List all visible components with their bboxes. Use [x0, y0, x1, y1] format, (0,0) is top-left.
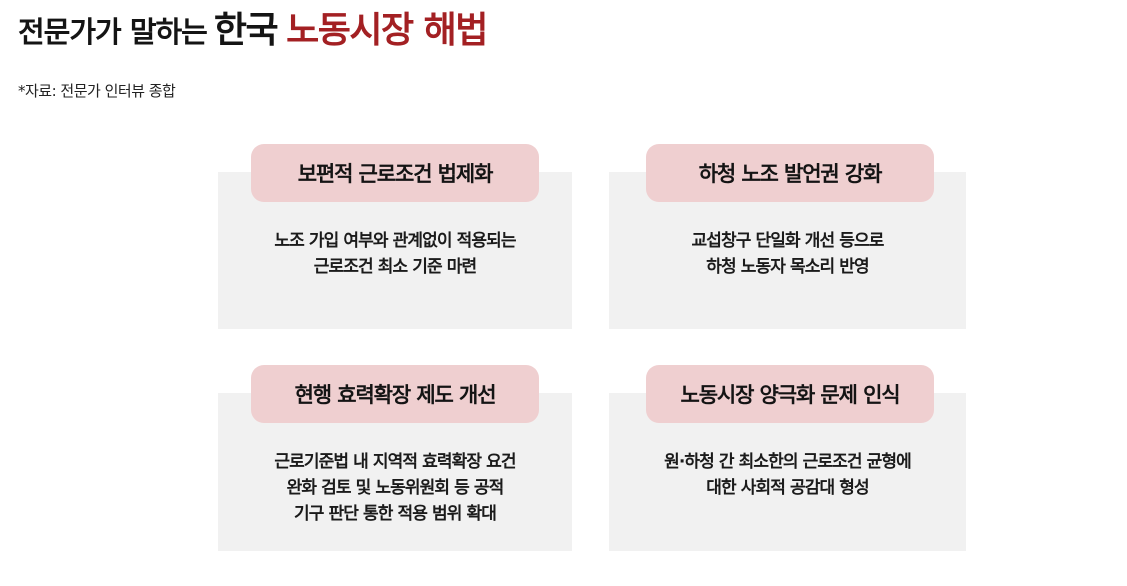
card-description-line: 근로기준법 내 지역적 효력확장 요건 [218, 449, 572, 475]
card-description-line: 기구 판단 통한 적용 범위 확대 [218, 501, 572, 527]
solution-card-4: 노동시장 양극화 문제 인식 원·하청 간 최소한의 근로조건 균형에 대한 사… [609, 365, 966, 551]
card-description: 노조 가입 여부와 관계없이 적용되는 근로조건 최소 기준 마련 [218, 228, 572, 280]
card-heading: 노동시장 양극화 문제 인식 [680, 379, 899, 409]
card-description-line: 대한 사회적 공감대 형성 [609, 475, 966, 501]
card-description: 원·하청 간 최소한의 근로조건 균형에 대한 사회적 공감대 형성 [609, 449, 966, 501]
card-heading: 현행 효력확장 제도 개선 [295, 379, 496, 409]
card-heading: 보편적 근로조건 법제화 [298, 158, 493, 188]
card-description-line: 교섭창구 단일화 개선 등으로 [609, 228, 966, 254]
card-header-pill: 보편적 근로조건 법제화 [251, 144, 539, 202]
card-description-line: 원·하청 간 최소한의 근로조건 균형에 [609, 449, 966, 475]
card-header-pill: 현행 효력확장 제도 개선 [251, 365, 539, 423]
card-description-line: 노조 가입 여부와 관계없이 적용되는 [218, 228, 572, 254]
solution-card-2: 하청 노조 발언권 강화 교섭창구 단일화 개선 등으로 하청 노동자 목소리 … [609, 144, 966, 329]
card-description-line: 근로조건 최소 기준 마련 [218, 254, 572, 280]
solution-card-1: 보편적 근로조건 법제화 노조 가입 여부와 관계없이 적용되는 근로조건 최소… [218, 144, 572, 329]
card-description-line: 하청 노동자 목소리 반영 [609, 254, 966, 280]
card-header-pill: 노동시장 양극화 문제 인식 [646, 365, 934, 423]
card-description-line: 완화 검토 및 노동위원회 등 공적 [218, 475, 572, 501]
card-header-pill: 하청 노조 발언권 강화 [646, 144, 934, 202]
card-heading: 하청 노조 발언권 강화 [699, 158, 882, 188]
card-description: 근로기준법 내 지역적 효력확장 요건 완화 검토 및 노동위원회 등 공적 기… [218, 449, 572, 527]
card-grid: 보편적 근로조건 법제화 노조 가입 여부와 관계없이 적용되는 근로조건 최소… [0, 0, 1127, 586]
solution-card-3: 현행 효력확장 제도 개선 근로기준법 내 지역적 효력확장 요건 완화 검토 … [218, 365, 572, 551]
card-description: 교섭창구 단일화 개선 등으로 하청 노동자 목소리 반영 [609, 228, 966, 280]
